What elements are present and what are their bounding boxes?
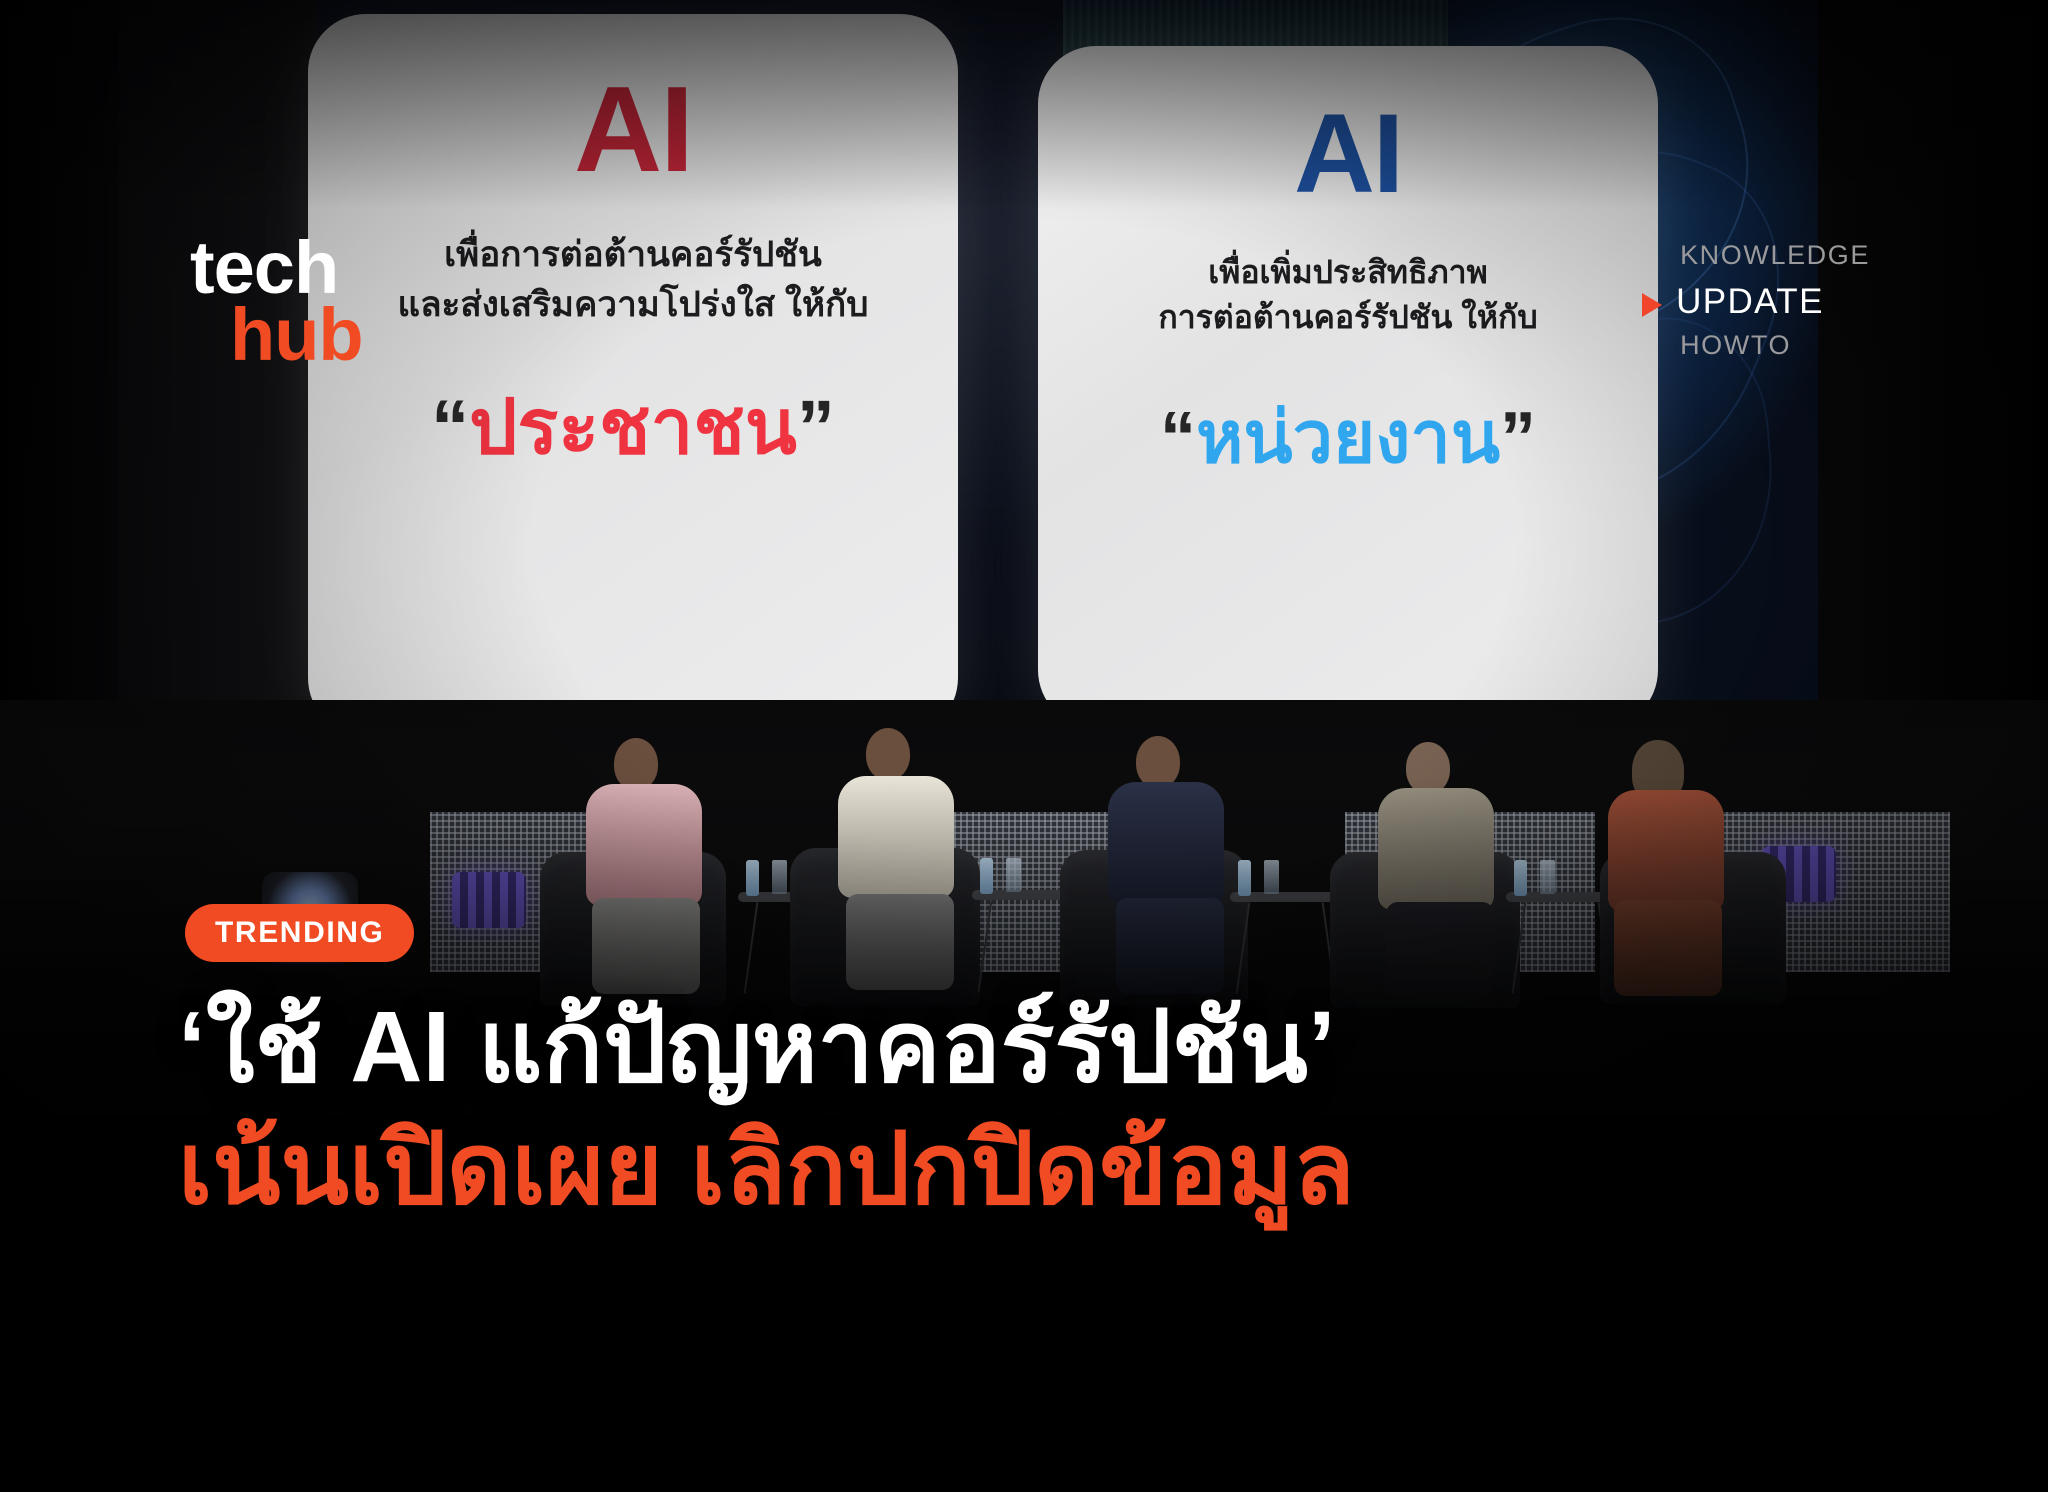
headline-line-2: เน้นเปิดเผย เลิกปกปิดข้อมูล — [178, 1110, 1928, 1228]
slide-card-subtitle-line2: การต่อต้านคอร์รัปชัน ให้กับ — [1158, 295, 1537, 340]
quote-open-mark: “ — [1160, 398, 1196, 478]
headline-line-1: ‘ใช้ AI แก้ปัญหาคอร์รัปชัน’ — [178, 988, 1928, 1106]
drinking-glass — [1264, 860, 1279, 894]
quote-word: ประชาชน — [469, 385, 797, 470]
slide-card-subtitle-line1: เพื่อการต่อต้านคอร์รัปชัน — [398, 230, 869, 280]
panelist-head — [1136, 736, 1180, 788]
auditorium-wall-right — [1788, 0, 2048, 780]
play-triangle-icon — [1642, 293, 1662, 317]
slide-card-subtitle-line2: และส่งเสริมความโปร่งใส ให้กับ — [398, 280, 869, 330]
panelist-head — [866, 728, 910, 780]
slide-card-subtitle: เพื่อการต่อต้านคอร์รัปชัน และส่งเสริมควา… — [356, 230, 911, 329]
water-bottle — [980, 858, 993, 894]
panelist-torso — [1608, 790, 1724, 912]
nav-item-howto[interactable]: HOWTO — [1680, 330, 1870, 361]
panelist-legs — [1614, 900, 1722, 996]
panelist-head — [1406, 742, 1450, 794]
slide-card-citizens: AI เพื่อการต่อต้านคอร์รัปชัน และส่งเสริม… — [308, 14, 958, 736]
panelist-torso — [838, 776, 954, 898]
water-bottle — [746, 860, 759, 896]
audience-head — [1720, 1227, 1920, 1382]
headline: ‘ใช้ AI แก้ปัญหาคอร์รัปชัน’ เน้นเปิดเผย … — [178, 988, 1928, 1228]
drinking-glass — [772, 860, 787, 894]
logo-text-hub: hub — [230, 305, 363, 366]
quote-open-mark: “ — [431, 385, 469, 470]
category-nav[interactable]: KNOWLEDGE UPDATE HOWTO — [1680, 240, 1870, 370]
panelist-legs — [1116, 898, 1224, 994]
background-photo: AI เพื่อการต่อต้านคอร์รัปชัน และส่งเสริม… — [0, 0, 2048, 1492]
panelist-torso — [586, 784, 702, 906]
nav-item-update[interactable]: UPDATE — [1676, 282, 1824, 322]
nav-item-update-row[interactable]: UPDATE — [1680, 280, 1870, 330]
panelist-legs — [846, 894, 954, 990]
quote-close-mark: ” — [797, 385, 835, 470]
slide-card-agencies: AI เพื่อเพิ่มประสิทธิภาพ การต่อต้านคอร์ร… — [1038, 46, 1658, 728]
stage-light — [452, 872, 526, 928]
slide-card-title: AI — [574, 68, 692, 190]
water-bottle — [1514, 860, 1527, 896]
slide-card-quote: “หน่วยงาน” — [1160, 379, 1536, 494]
slide-card-subtitle: เพื่อเพิ่มประสิทธิภาพ การต่อต้านคอร์รัปช… — [1116, 250, 1579, 341]
slide-card-quote: “ประชาชน” — [431, 367, 835, 487]
panelist-legs — [592, 898, 700, 994]
slide-card-title: AI — [1294, 98, 1402, 210]
water-bottle — [1238, 860, 1251, 896]
panelist-head — [614, 738, 658, 790]
drinking-glass — [1540, 860, 1555, 894]
quote-close-mark: ” — [1500, 398, 1536, 478]
status-badge-trending: TRENDING — [185, 904, 414, 962]
panelist-torso — [1108, 782, 1224, 904]
slide-card-subtitle-line1: เพื่อเพิ่มประสิทธิภาพ — [1158, 250, 1537, 295]
panelist-torso — [1378, 788, 1494, 910]
audience-head — [60, 1232, 250, 1382]
thumbnail-card: AI เพื่อการต่อต้านคอร์รัปชัน และส่งเสริม… — [0, 0, 2048, 1492]
quote-word: หน่วยงาน — [1196, 398, 1500, 478]
auditorium-wall-left — [0, 0, 130, 760]
panelist-legs — [1386, 902, 1494, 998]
drinking-glass — [1006, 858, 1021, 892]
audience-head — [1060, 1212, 1260, 1372]
logo-text-tech: tech — [190, 238, 363, 299]
techhub-logo[interactable]: tech hub — [190, 238, 363, 365]
nav-item-knowledge[interactable]: KNOWLEDGE — [1680, 240, 1870, 271]
